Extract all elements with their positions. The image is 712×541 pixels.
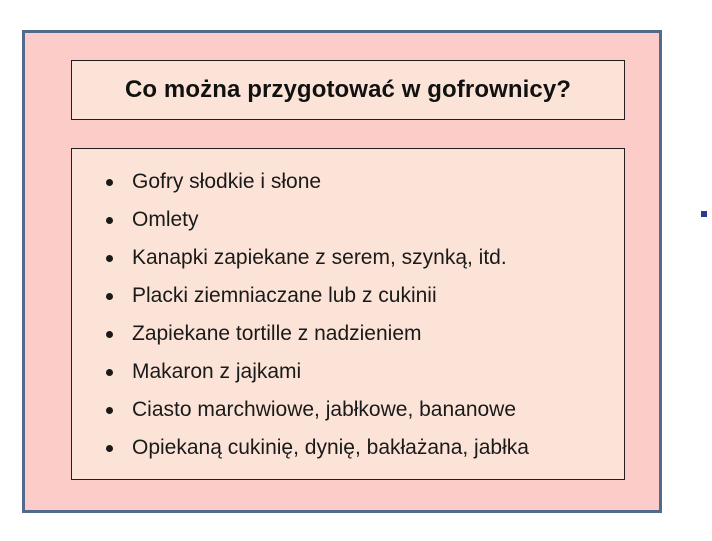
dish-list-card: Gofry słodkie i słone Omlety Kanapki zap…: [71, 148, 625, 480]
bullet-icon: [106, 369, 113, 376]
list-item-label: Opiekaną cukinię, dynię, bakłażana, jabł…: [132, 436, 529, 459]
bullet-icon: [106, 407, 113, 414]
list-item-label: Zapiekane tortille z nadzieniem: [132, 322, 422, 345]
list-item: Ciasto marchwiowe, jabłkowe, bananowe: [72, 391, 624, 429]
list-item-label: Makaron z jajkami: [132, 360, 301, 383]
bullet-icon: [106, 445, 113, 452]
dish-list: Gofry słodkie i słone Omlety Kanapki zap…: [72, 163, 624, 467]
list-item-label: Omlety: [132, 208, 199, 231]
page-title: Co można przygotować w gofrownicy?: [125, 76, 571, 104]
bullet-icon: [106, 293, 113, 300]
bullet-icon: [106, 179, 113, 186]
list-item: Omlety: [72, 201, 624, 239]
list-item-label: Ciasto marchwiowe, jabłkowe, bananowe: [132, 398, 516, 421]
list-item-label: Gofry słodkie i słone: [132, 170, 321, 193]
list-item: Placki ziemniaczane lub z cukinii: [72, 277, 624, 315]
list-item: Makaron z jajkami: [72, 353, 624, 391]
list-item-label: Placki ziemniaczane lub z cukinii: [132, 284, 437, 307]
bullet-icon: [106, 255, 113, 262]
title-card: Co można przygotować w gofrownicy?: [71, 60, 625, 120]
list-item-label: Kanapki zapiekane z serem, szynką, itd.: [132, 246, 507, 269]
slide-panel: Co można przygotować w gofrownicy? Gofry…: [22, 30, 662, 513]
bullet-icon: [106, 331, 113, 338]
bullet-icon: [106, 217, 113, 224]
selection-handle-marker: [701, 211, 707, 217]
list-item: Gofry słodkie i słone: [72, 163, 624, 201]
list-item: Zapiekane tortille z nadzieniem: [72, 315, 624, 353]
list-item: Opiekaną cukinię, dynię, bakłażana, jabł…: [72, 429, 624, 467]
list-item: Kanapki zapiekane z serem, szynką, itd.: [72, 239, 624, 277]
